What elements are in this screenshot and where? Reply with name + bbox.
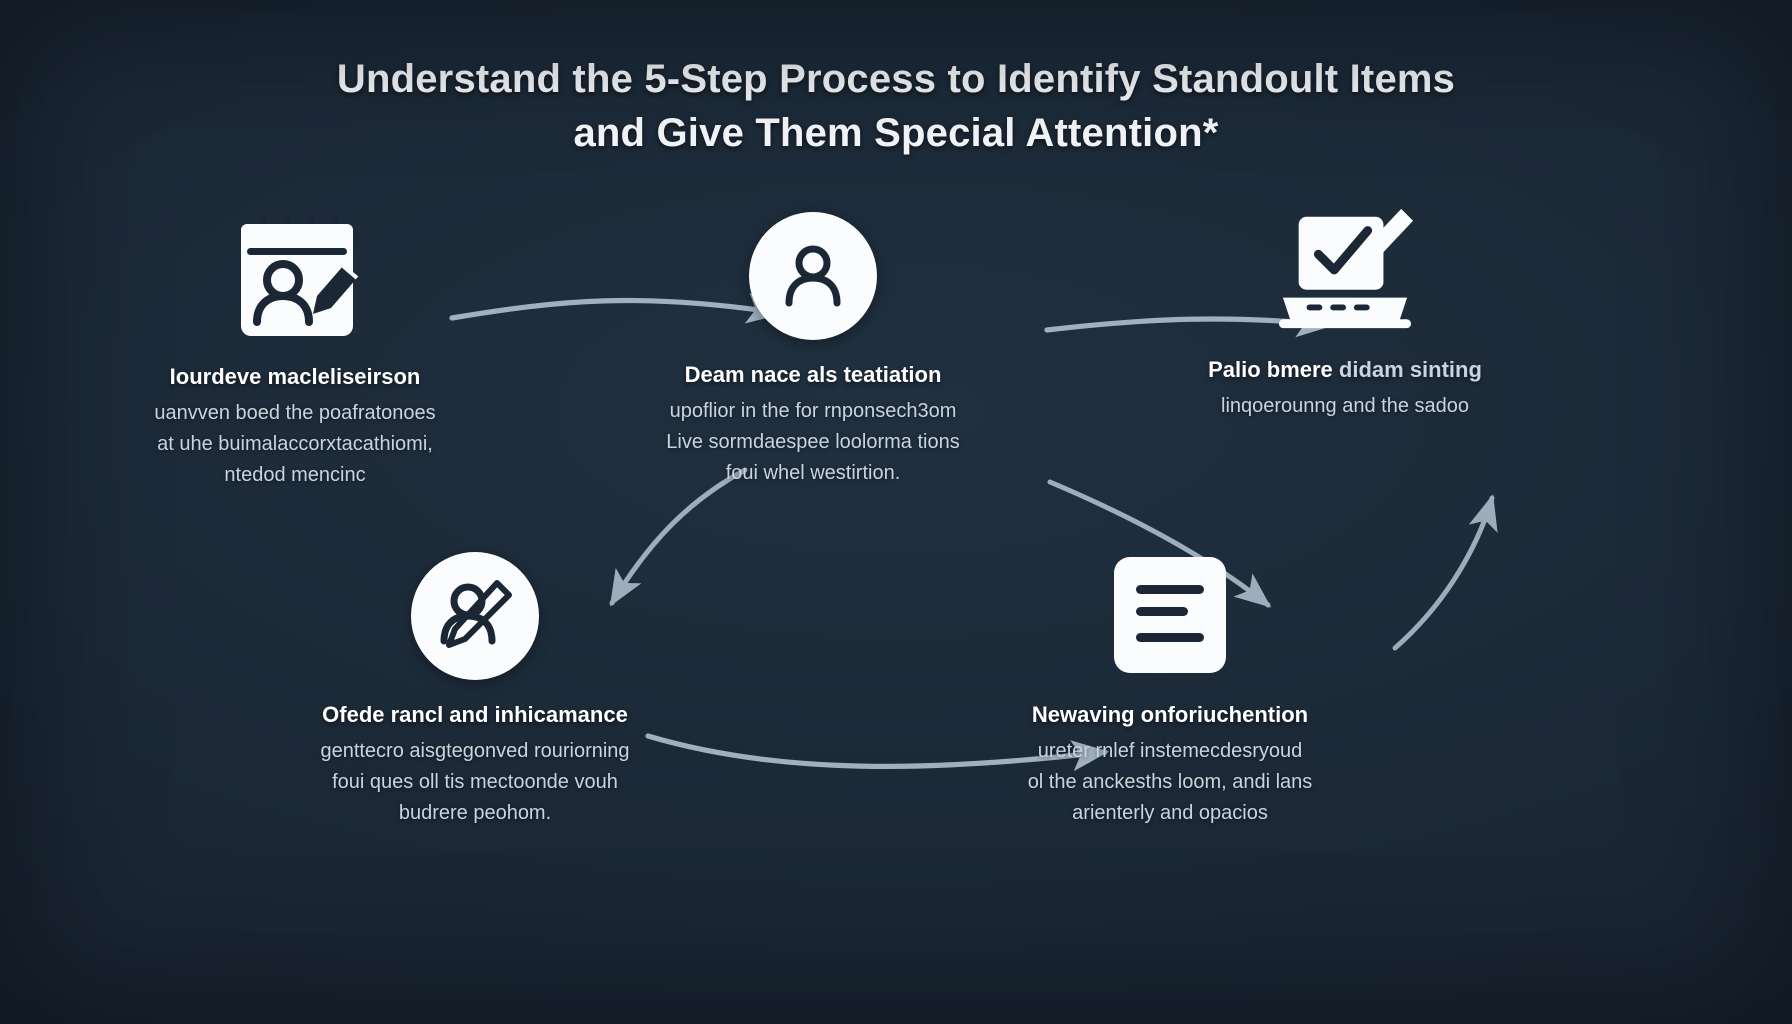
step-2-body-line-1: upoflior in the for rnponsech3om	[623, 396, 1003, 427]
step-1-body: uanvven boed the poafratonoes at uhe bui…	[105, 398, 485, 491]
step-3-heading: Palio bmere didam sinting	[1145, 355, 1545, 385]
step-5-body-line-2: ol the anckesths loom, andi lans	[980, 767, 1360, 798]
step-3-heading-tail: didam sinting	[1339, 357, 1482, 382]
step-1-caption: Iourdeve macleliseirson uanvven boed the…	[105, 362, 485, 491]
step-node-3[interactable]: Palio bmere didam sinting linqoerounng a…	[1145, 205, 1545, 422]
step-4-body-line-1: genttecro aisgtegonved rouriorning	[285, 736, 665, 767]
step-5-body: ureter rnlef instemecdesryoud ol the anc…	[980, 736, 1360, 829]
step-4-body-line-3: budrere peohom.	[285, 798, 665, 829]
step-4-icon-wrap	[285, 552, 665, 680]
step-2-caption: Deam nace als teatiation upoflior in the…	[623, 360, 1003, 489]
step-5-body-line-1: ureter rnlef instemecdesryoud	[980, 736, 1360, 767]
step-2-heading: Deam nace als teatiation	[623, 360, 1003, 390]
step-4-body: genttecro aisgtegonved rouriorning foui …	[285, 736, 665, 829]
step-1-heading: Iourdeve macleliseirson	[105, 362, 485, 392]
step-5-caption: Newaving onforiuchention ureter rnlef in…	[980, 700, 1360, 829]
document-lines-icon	[1100, 550, 1240, 680]
step-4-body-line-2: foui ques oll tis mectoonde vouh	[285, 767, 665, 798]
step-4-heading: Ofede rancl and inhicamance	[285, 700, 665, 730]
arrow-layer	[0, 0, 1792, 1024]
step-2-body: upoflior in the for rnponsech3om Live so…	[623, 396, 1003, 489]
laptop-checkmark-icon	[1275, 205, 1415, 335]
step-2-body-line-3: foui whel westirtion.	[623, 458, 1003, 489]
step-node-5[interactable]: Newaving onforiuchention ureter rnlef in…	[975, 550, 1365, 829]
step-1-body-line-2: at uhe buimalaccorxtacathiomi,	[105, 429, 485, 460]
step-node-2[interactable]: Deam nace als teatiation upoflior in the…	[623, 212, 1003, 489]
step-3-caption: Palio bmere didam sinting linqoerounng a…	[1145, 355, 1545, 422]
step-5-body-line-3: arienterly and opacios	[980, 798, 1360, 829]
step-1-body-line-1: uanvven boed the poafratonoes	[105, 398, 485, 429]
step-2-body-line-2: Live sormdaespee loolorma tions	[623, 427, 1003, 458]
notepad-person-pencil-icon	[225, 212, 365, 342]
arrow-5-to-3	[1395, 498, 1492, 648]
step-5-heading: Newaving onforiuchention	[980, 700, 1360, 730]
step-node-4[interactable]: Ofede rancl and inhicamance genttecro ai…	[285, 552, 665, 829]
step-3-body-line-1: linqoerounng and the sadoo	[1145, 391, 1545, 422]
step-node-1[interactable]: Iourdeve macleliseirson uanvven boed the…	[105, 212, 485, 491]
step-3-body: linqoerounng and the sadoo	[1145, 391, 1545, 422]
step-1-icon-wrap	[105, 212, 485, 342]
step-2-icon-wrap	[623, 212, 1003, 340]
person-circle-icon	[749, 212, 877, 340]
step-5-icon-wrap	[975, 550, 1365, 680]
person-pen-circle-icon	[411, 552, 539, 680]
step-3-icon-wrap	[1145, 205, 1545, 335]
step-4-caption: Ofede rancl and inhicamance genttecro ai…	[285, 700, 665, 829]
step-3-heading-main: Palio bmere	[1208, 357, 1333, 382]
step-1-body-line-3: ntedod mencinc	[105, 460, 485, 491]
